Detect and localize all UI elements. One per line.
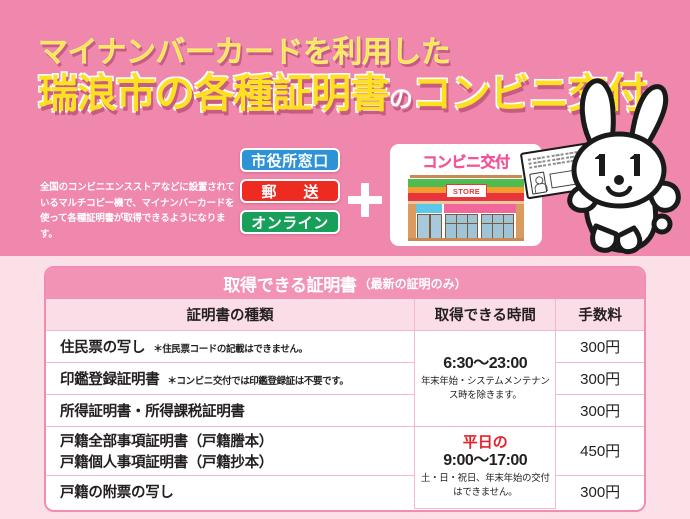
cell-hours-standard: 6:30〜23:00 年末年始・システムメンテナンス時を除きます。 [415,330,556,426]
store-awning-blue [416,204,442,213]
headline-line-2: 瑞浪市の各種証明書のコンビニ交付 [38,74,568,114]
kind-label-line1: 戸籍全部事項証明書（戸籍謄本） [60,430,414,451]
column-header-fee: 手数料 [556,299,644,330]
store-window-left [445,214,478,240]
cell-kind-koseki-fuhyo: 戸籍の附票の写し [46,475,415,508]
store-roof-line [410,175,522,178]
kind-label: 住民票の写し [60,340,145,356]
certificates-grid: 証明書の種類 取得できる時間 手数料 住民票の写し＊住民票コードの記載はできませ… [46,299,644,509]
banner-root: マイナンバーカードを利用した 瑞浪市の各種証明書のコンビニ交付 全国のコンビニエ… [0,0,690,519]
certificates-table: 取得できる証明書 （最新の証明のみ） 証明書の種類 取得できる時間 手数料 住民… [44,266,646,512]
cell-fee: 300円 [556,475,644,508]
cell-fee: 300円 [556,330,644,362]
headline-city-certificates: 瑞浪市の各種証明書 [38,72,389,116]
cell-fee: 300円 [556,394,644,426]
rabbit-mascot-icon [556,66,688,256]
convenience-store-illustration: STORE [408,175,524,240]
store-door [417,214,442,240]
cell-kind-income-tax: 所得証明書・所得課税証明書 [46,394,415,426]
kind-label-line2: 戸籍個人事項証明書（戸籍抄本） [60,451,414,472]
cell-kind-seal-registration: 印鑑登録証明書＊コンビニ交付では印鑑登録証は不要です。 [46,362,415,394]
table-row: 戸籍全部事項証明書（戸籍謄本） 戸籍個人事項証明書（戸籍抄本） 平日の 9:00… [46,426,644,475]
hours-note: 土・日・祝日、年末年始の交付はできません。 [419,472,551,500]
store-awning-pink [444,204,520,213]
store-window-right [481,214,514,240]
cell-kind-residence-copy: 住民票の写し＊住民票コードの記載はできません。 [46,330,415,362]
store-sign: STORE [446,184,487,198]
page-title: マイナンバーカードを利用した 瑞浪市の各種証明書のコンビニ交付 [38,38,568,114]
hero-section: マイナンバーカードを利用した 瑞浪市の各種証明書のコンビニ交付 全国のコンビニエ… [0,0,690,256]
pill-city-hall-counter[interactable]: 市役所窓口 [240,148,340,172]
cell-hours-weekday: 平日の 9:00〜17:00 土・日・祝日、年末年始の交付はできません。 [415,426,556,508]
plus-icon [348,183,382,217]
store-base [408,238,524,241]
table-header-row: 証明書の種類 取得できる時間 手数料 [46,299,644,330]
table-row: 住民票の写し＊住民票コードの記載はできません。 6:30〜23:00 年末年始・… [46,330,644,362]
store-wall-left [408,204,416,240]
hours-weekday-prefix: 平日の [419,434,551,451]
cell-fee: 450円 [556,426,644,475]
hours-value: 9:00〜17:00 [419,451,551,470]
headline-line-1: マイナンバーカードを利用した [38,38,568,68]
kind-label: 印鑑登録証明書 [60,372,159,388]
pill-online[interactable]: オンライン [240,210,340,234]
method-pill-group: 市役所窓口 郵 送 オンライン [240,148,340,241]
store-wall-right [516,204,524,240]
cell-kind-koseki-full: 戸籍全部事項証明書（戸籍謄本） 戸籍個人事項証明書（戸籍抄本） [46,426,415,475]
hours-value: 6:30〜23:00 [419,354,551,373]
hours-note: 年末年始・システムメンテナンス時を除きます。 [419,375,551,403]
pill-mail[interactable]: 郵 送 [240,179,340,203]
konbini-kofu-card: コンビニ交付 STORE [390,144,542,246]
kind-label: 所得証明書・所得課税証明書 [60,404,245,420]
kind-note: ＊住民票コードの記載はできません。 [153,344,307,355]
hero-description: 全国のコンビニエンスストアなどに設置されているマルチコピー機で、マイナンバーカー… [40,180,240,243]
cell-fee: 300円 [556,362,644,394]
kind-note: ＊コンビニ交付では印鑑登録証は不要です。 [167,376,348,387]
headline-particle: の [389,86,412,113]
column-header-kind: 証明書の種類 [46,299,415,330]
card-photo-area [529,172,547,195]
column-header-hours: 取得できる時間 [415,299,556,330]
table-title-sub: （最新の証明のみ） [359,275,467,292]
table-title-main: 取得できる証明書 [223,271,356,296]
kind-label: 戸籍の附票の写し [60,485,174,501]
table-title: 取得できる証明書 （最新の証明のみ） [46,268,644,299]
